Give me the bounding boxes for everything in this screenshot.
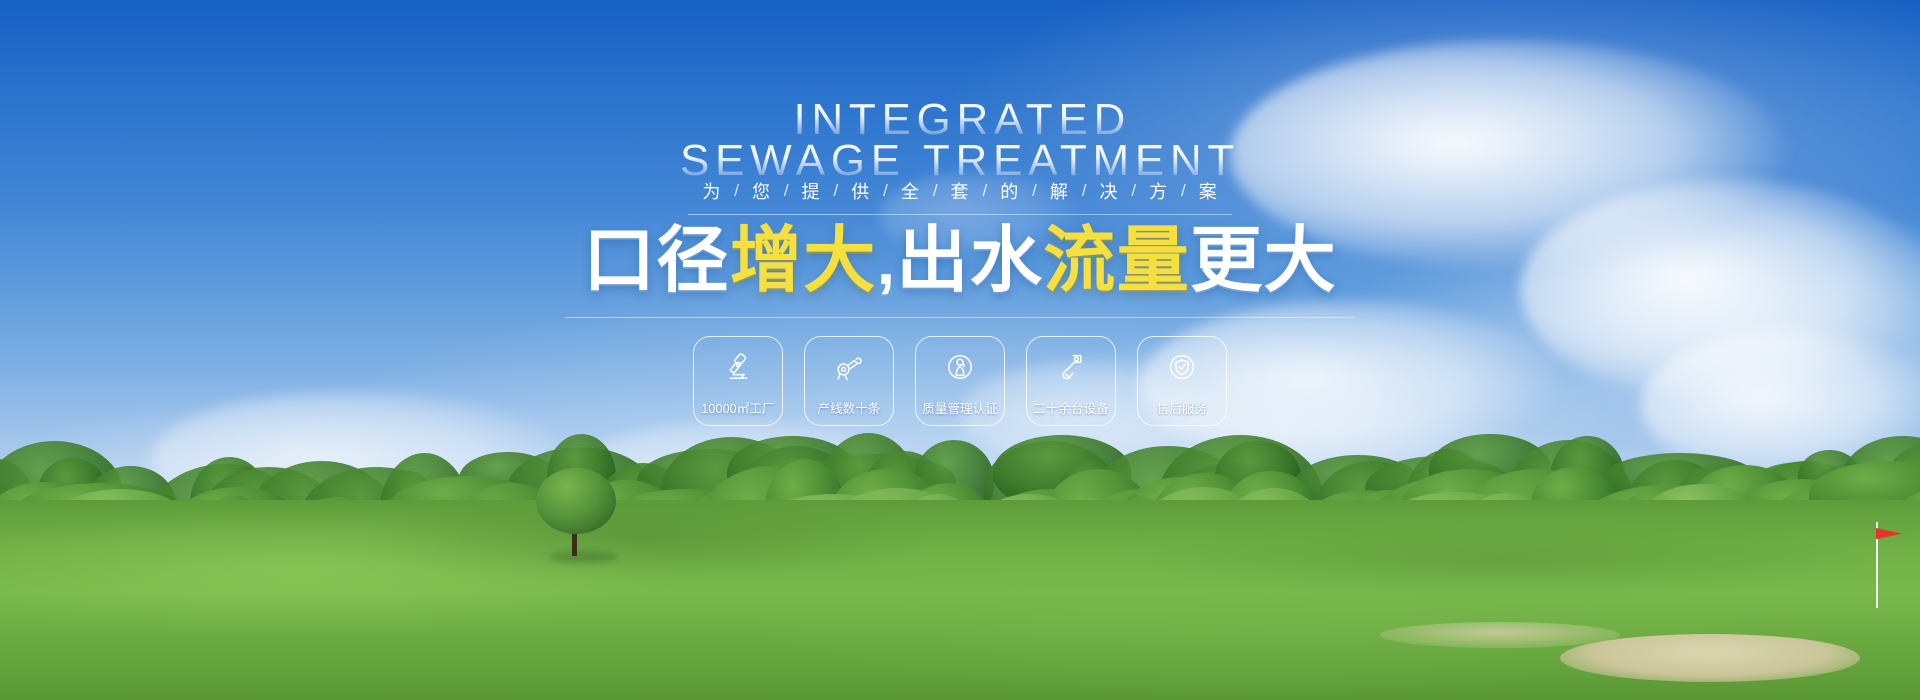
slash-separator: /: [734, 181, 739, 201]
slash-separator: /: [834, 181, 839, 201]
feature-badge[interactable]: 产线数十条: [804, 336, 894, 426]
slash-subtitle-word: 决: [1099, 178, 1118, 204]
feature-badge-label: 二十余台设备: [1033, 398, 1109, 417]
slash-subtitle-word: 套: [951, 178, 970, 204]
production-line-icon: [832, 350, 866, 384]
slash-separator: /: [933, 181, 938, 201]
slash-separator: /: [982, 181, 987, 201]
slash-separator: /: [1032, 181, 1037, 201]
equipment-tool-icon: [1054, 350, 1088, 384]
slash-subtitle-inner: 为/您/提/供/全/套/的/解/决/方/案: [688, 178, 1231, 215]
feature-badge-label: 售后服务: [1157, 398, 1208, 417]
english-heading: INTEGRATED SEWAGE TREATMENT: [0, 98, 1920, 184]
slash-separator: /: [1082, 181, 1087, 201]
slash-subtitle-word: 您: [752, 178, 771, 204]
slash-subtitle-word: 全: [901, 178, 920, 204]
feature-badge-list: 10000㎡工厂产线数十条质量管理认证二十余台设备售后服务: [0, 336, 1920, 426]
slash-separator: /: [784, 181, 789, 201]
headline-segment: 更大: [1190, 222, 1337, 301]
feature-badge[interactable]: 10000㎡工厂: [693, 336, 783, 426]
slash-subtitle: 为/您/提/供/全/套/的/解/决/方/案: [0, 178, 1920, 215]
slash-subtitle-word: 供: [851, 178, 870, 204]
microscope-icon: [721, 350, 755, 384]
slash-separator: /: [883, 181, 888, 201]
slash-subtitle-word: 的: [1000, 178, 1019, 204]
headline-segment: 口径: [583, 222, 730, 301]
slash-separator: /: [1131, 181, 1136, 201]
slash-subtitle-word: 解: [1050, 178, 1069, 204]
slash-subtitle-word: 案: [1199, 178, 1218, 204]
feature-badge[interactable]: 质量管理认证: [915, 336, 1005, 426]
headline-segment: 增大: [730, 222, 877, 301]
main-headline-inner: 口径增大,出水流量更大: [565, 222, 1355, 318]
feature-badge-label: 质量管理认证: [922, 398, 998, 417]
banner-content: INTEGRATED SEWAGE TREATMENT 为/您/提/供/全/套/…: [0, 0, 1920, 700]
headline-segment: 出水: [896, 222, 1043, 301]
slash-subtitle-word: 提: [802, 178, 821, 204]
headline-segment: 流量: [1043, 222, 1190, 301]
feature-badge[interactable]: 售后服务: [1137, 336, 1227, 426]
slash-separator: /: [1181, 181, 1186, 201]
slash-subtitle-word: 为: [702, 178, 721, 204]
after-sales-shield-icon: [1165, 350, 1199, 384]
hero-banner: INTEGRATED SEWAGE TREATMENT 为/您/提/供/全/套/…: [0, 0, 1920, 700]
feature-badge[interactable]: 二十余台设备: [1026, 336, 1116, 426]
certificate-seal-icon: [943, 350, 977, 384]
slash-subtitle-word: 方: [1149, 178, 1168, 204]
feature-badge-label: 产线数十条: [817, 398, 880, 417]
main-headline: 口径增大,出水流量更大: [0, 222, 1920, 318]
feature-badge-label: 10000㎡工厂: [701, 398, 774, 417]
headline-segment: ,: [877, 225, 897, 298]
